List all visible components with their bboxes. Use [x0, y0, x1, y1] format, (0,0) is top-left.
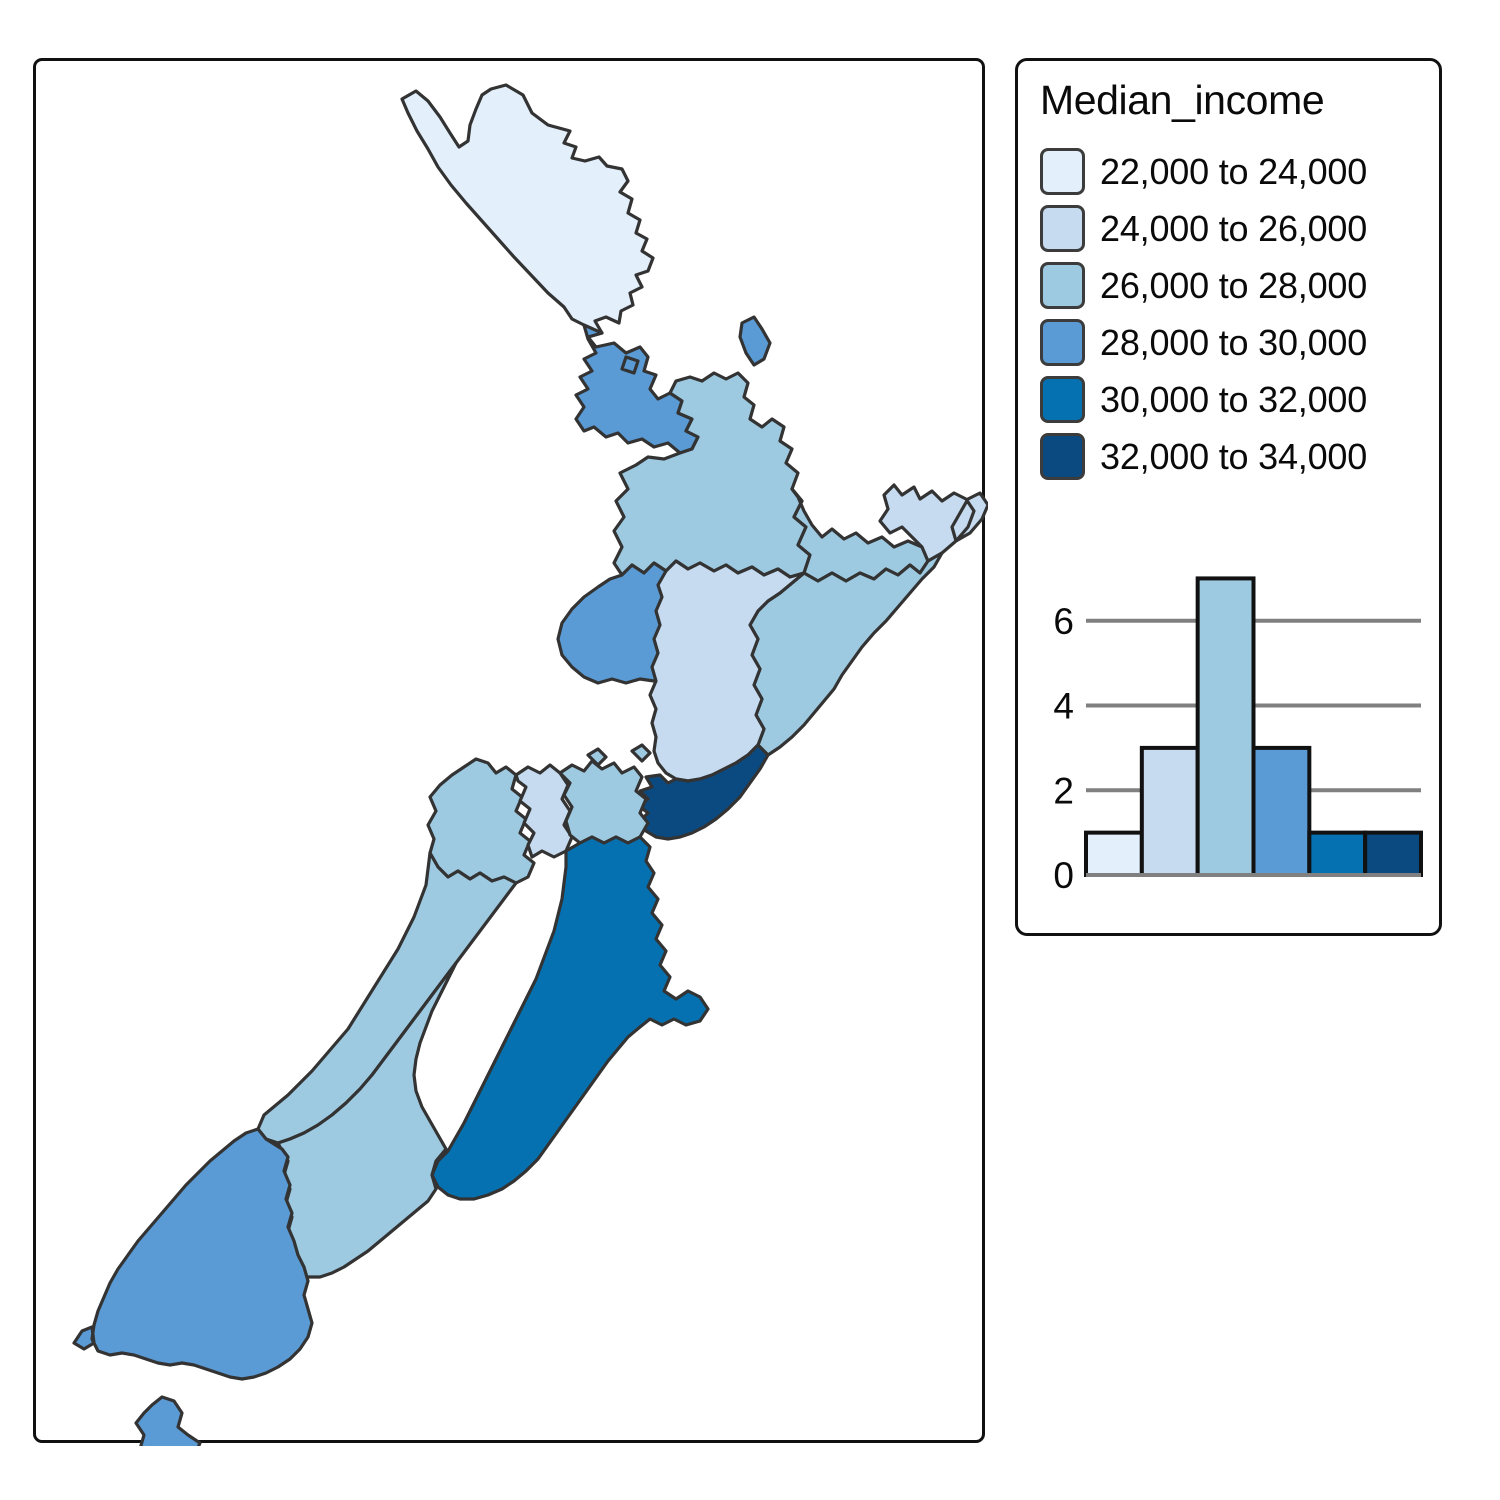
legend-label-5: 30,000 to 32,000 [1100, 379, 1367, 421]
legend-item-26000-28000[interactable]: 26,000 to 28,000 [1040, 257, 1430, 314]
histogram-tick-labels: 0246 [1053, 601, 1074, 896]
map-region-islet-2[interactable] [632, 745, 650, 761]
legend-swatch-2 [1040, 205, 1085, 252]
histogram-svg: 0246 [1036, 535, 1426, 915]
legend-swatch-6 [1040, 433, 1085, 480]
histogram-y-tick-label: 0 [1053, 855, 1074, 896]
legend-label-4: 28,000 to 30,000 [1100, 322, 1367, 364]
legend-swatch-5 [1040, 376, 1085, 423]
legend-swatch-3 [1040, 262, 1085, 309]
map-region-stewart-island[interactable] [136, 1397, 200, 1446]
legend-label-6: 32,000 to 34,000 [1100, 436, 1367, 478]
histogram-bar[interactable] [1086, 833, 1142, 875]
legend-label-1: 22,000 to 24,000 [1100, 151, 1367, 193]
legend-item-32000-34000[interactable]: 32,000 to 34,000 [1040, 428, 1430, 485]
histogram-y-tick-label: 4 [1053, 686, 1074, 727]
legend-panel: Median_income 22,000 to 24,000 24,000 to… [1015, 58, 1442, 936]
histogram-bar[interactable] [1142, 748, 1198, 875]
legend-item-28000-30000[interactable]: 28,000 to 30,000 [1040, 314, 1430, 371]
legend-item-list: 22,000 to 24,000 24,000 to 26,000 26,000… [1040, 143, 1430, 485]
histogram-bars [1086, 578, 1421, 875]
new-zealand-choropleth [36, 61, 988, 1446]
map-region-auckland-islands[interactable] [740, 317, 770, 365]
histogram-bar[interactable] [1309, 833, 1365, 875]
legend-swatch-4 [1040, 319, 1085, 366]
histogram-y-tick-label: 2 [1053, 770, 1074, 811]
legend-label-3: 26,000 to 28,000 [1100, 265, 1367, 307]
legend-swatch-1 [1040, 148, 1085, 195]
histogram-bar[interactable] [1365, 833, 1421, 875]
legend-item-24000-26000[interactable]: 24,000 to 26,000 [1040, 200, 1430, 257]
map-panel [33, 58, 985, 1443]
class-distribution-histogram: 0246 [1036, 535, 1426, 915]
histogram-y-tick-label: 6 [1053, 601, 1074, 642]
map-region-southland[interactable] [74, 1129, 312, 1379]
legend-item-22000-24000[interactable]: 22,000 to 24,000 [1040, 143, 1430, 200]
map-region-marlborough[interactable] [560, 761, 648, 843]
legend-label-2: 24,000 to 26,000 [1100, 208, 1367, 250]
legend-title: Median_income [1040, 77, 1324, 124]
legend-item-30000-32000[interactable]: 30,000 to 32,000 [1040, 371, 1430, 428]
histogram-bar[interactable] [1198, 578, 1254, 875]
map-region-northland[interactable] [402, 85, 653, 337]
histogram-bar[interactable] [1254, 748, 1310, 875]
